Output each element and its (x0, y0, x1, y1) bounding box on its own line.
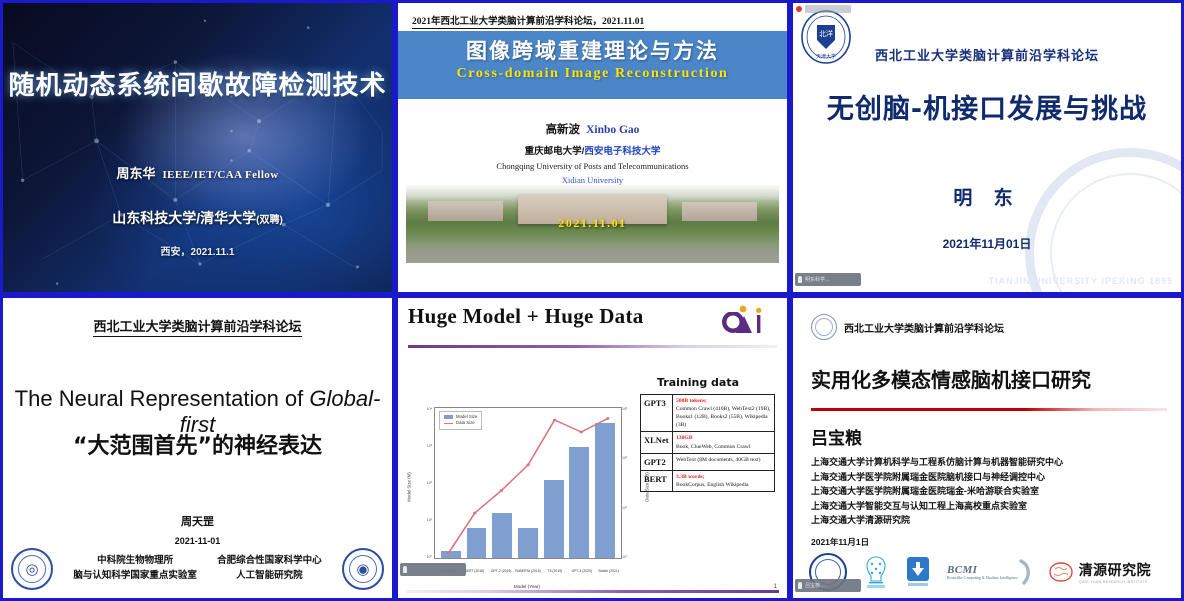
video-participant-badge-6[interactable]: 吕宝粮… (795, 579, 861, 592)
model-detail: 130GB Book, ClueWeb, Common Crawl (673, 432, 775, 453)
slide-6-org-4: 上海交通大学清源研究院 (811, 513, 1171, 528)
slide-5-canvas: Huge Model + Huge Data Training data GPT… (398, 298, 787, 598)
brain-lab-logo (863, 555, 889, 589)
slide-1-title: 随机动态系统间歇故障检测技术 (3, 65, 392, 102)
slide-4-forum: 西北工业大学类脑计算前沿学科论坛 (3, 316, 392, 335)
legend-swatch-bar (444, 415, 453, 419)
slide-1-affiliation: 山东科技大学/清华大学 (112, 210, 256, 226)
svg-text:北洋: 北洋 (819, 29, 833, 38)
slide-4-title-cn: “大范围首先”的神经表达 (3, 428, 392, 460)
slide-4-org-right: 合肥综合性国家科学中心 人工智能研究院 (217, 554, 322, 583)
slide-2-canvas: 2021年西北工业大学类脑计算前沿学科论坛，2021.11.01 图像跨域重建理… (398, 3, 787, 292)
chart-data-size-line (435, 408, 621, 558)
slide-4-canvas: 西北工业大学类脑计算前沿学科论坛 The Neural Representati… (3, 298, 392, 598)
video-participant-badge-3[interactable]: 明东科学… (795, 273, 861, 286)
footer-rule (406, 590, 779, 593)
qingyuan-brain-icon (1048, 561, 1074, 583)
slide-2-title-cn: 图像跨域重建理论与方法 (398, 35, 787, 65)
bcmi-label: BCMI (947, 564, 977, 576)
microphone-icon (798, 276, 802, 283)
tianjin-watermark-text: TIANJIN UNIVERSITY IPEKING 1895 (989, 276, 1173, 286)
slide-5-header: Huge Model + Huge Data (408, 304, 777, 348)
table-row: XLNet 130GB Book, ClueWeb, Common Crawl (641, 432, 775, 453)
slide-2-org-en-2: Xidian University (398, 175, 787, 185)
slide-6-org-0: 上海交通大学计算机科学与工程系仿脑计算与机器智能研究中心 (811, 455, 1171, 470)
slide-1-author: 周东华 (116, 166, 155, 181)
bcmi-logo: BCMI Brain-like Computing & Machine Inte… (947, 559, 1032, 585)
slide-6-logo-row: BCMI Brain-like Computing & Machine Inte… (809, 550, 1171, 594)
slide-4-author: 周天罡 (3, 513, 392, 529)
blue-lab-logo (905, 556, 931, 588)
slide-6-title: 实用化多模态情感脑机接口研究 (811, 364, 1091, 393)
table-row: GPT3 500B tokens; Common Crawl (410B), W… (641, 395, 775, 432)
slide-4-org-right-2: 人工智能研究院 (217, 569, 322, 584)
slide-panel-3[interactable]: TIANJIN UNIVERSITY IPEKING 1895 北洋 天津大学 … (790, 0, 1184, 295)
slide-2-header: 2021年西北工业大学类脑计算前沿学科论坛，2021.11.01 (412, 13, 777, 27)
slide-4-org-left: 中科院生物物理所 脑与认知科学国家重点实验室 (73, 554, 197, 583)
slide-3-canvas: TIANJIN UNIVERSITY IPEKING 1895 北洋 天津大学 … (793, 3, 1181, 292)
slide-6-date: 2021年11月1日 (811, 536, 869, 548)
slide-6-org-1: 上海交通大学医学院附属瑞金医院脑机接口与神经调控中心 (811, 470, 1171, 485)
chart-x-axis-label: Model (Year) (416, 584, 638, 589)
recording-label-bar (805, 5, 851, 13)
slide-6-author: 吕宝粮 (811, 424, 862, 449)
slide-2-speaker-line: 高新波Xinbo Gao (398, 121, 787, 137)
model-name: XLNet (641, 432, 673, 453)
model-detail: 500B tokens; Common Crawl (410B), WebTex… (673, 395, 775, 432)
bcmi-swoosh-icon (1018, 559, 1032, 585)
slide-1-date: 西安，2021.11.1 (3, 243, 392, 258)
slide-3-speaker: 明 东 (793, 183, 1181, 210)
legend-label-1: Data Size (456, 420, 475, 426)
nwpu-logo (811, 314, 837, 340)
model-detail: WebText (8M documents, 40GB text) (673, 453, 775, 470)
hefei-ai-institute-logo: ◉ (342, 548, 384, 590)
slide-2-title-en: Cross-domain Image Reconstruction (398, 66, 787, 82)
model-scaling-chart: Model Size (M) Data Size (GB) 10⁴10³ 10²… (416, 403, 638, 571)
tianjin-watermark (1025, 148, 1181, 292)
ibp-cas-logo: ◎ (11, 548, 53, 590)
video-participant-badge-5[interactable] (400, 563, 466, 576)
recording-indicator-icon (796, 6, 802, 12)
slide-3-title: 无创脑-机接口发展与挑战 (793, 87, 1181, 126)
slide-1-affiliation-line: 山东科技大学/清华大学(双聘) (3, 208, 392, 228)
table-row: BERT 3.3B words; BookCorpus, English Wik… (641, 470, 775, 491)
slide-2-org-cn-2: 西安电子科技大学 (584, 146, 660, 157)
slide-6-canvas: 西北工业大学类脑计算前沿学科论坛 实用化多模态情感脑机接口研究 吕宝粮 上海交通… (793, 298, 1181, 598)
participant-name: 明东科学… (805, 276, 830, 283)
slide-6-rule (811, 408, 1167, 411)
slide-1-honor: IEEE/IET/CAA Fellow (162, 169, 278, 181)
slide-4-org-right-1: 合肥综合性国家科学中心 (217, 554, 322, 569)
microphone-icon (798, 582, 802, 589)
training-data-table: GPT3 500B tokens; Common Crawl (410B), W… (640, 394, 775, 492)
header-rule (408, 345, 777, 348)
slide-1-canvas: 随机动态系统间歇故障检测技术 周东华IEEE/IET/CAA Fellow 山东… (3, 3, 392, 292)
slide-1-author-line: 周东华IEEE/IET/CAA Fellow (3, 163, 392, 182)
slide-6-org-3: 上海交通大学智能交互与认知工程上海高校重点实验室 (811, 499, 1171, 514)
qingyuan-label: 清源研究院 (1079, 562, 1152, 578)
microphone-icon (403, 566, 407, 573)
slide-3-forum: 西北工业大学类脑计算前沿学科论坛 (793, 45, 1181, 64)
slides-grid: 随机动态系统间歇故障检测技术 周东华IEEE/IET/CAA Fellow 山东… (0, 0, 1184, 601)
slide-2-date: 2021.11.01 (398, 216, 787, 231)
slide-panel-2[interactable]: 2021年西北工业大学类脑计算前沿学科论坛，2021.11.01 图像跨域重建理… (395, 0, 790, 295)
slide-4-org-left-1: 中科院生物物理所 (73, 554, 197, 569)
table-row: GPT2 WebText (8M documents, 40GB text) (641, 453, 775, 470)
model-name: GPT2 (641, 453, 673, 470)
training-data-title: Training data (657, 376, 739, 389)
qingyuan-logo: 清源研究院 QING YUAN RESEARCH INSTITUTE (1048, 560, 1152, 584)
bcmi-sub: Brain-like Computing & Machine Intellige… (947, 576, 1018, 580)
model-name: GPT3 (641, 395, 673, 432)
slide-6-org-2: 上海交通大学医学院附属瑞金医院瑞金-米哈游联合实验室 (811, 484, 1171, 499)
chart-y-axis-label: Model Size (M) (406, 472, 411, 502)
slide-panel-5[interactable]: Huge Model + Huge Data Training data GPT… (395, 295, 790, 601)
chart-legend: Model Size Data Size (439, 411, 482, 430)
slide-4-title-en-pre: The Neural Representation of (15, 386, 310, 411)
slide-2-org-en-1: Chongqing University of Posts and Teleco… (398, 161, 787, 171)
slide-2-title-band: 图像跨域重建理论与方法 Cross-domain Image Reconstru… (398, 31, 787, 99)
slide-4-date: 2021-11-01 (3, 536, 392, 546)
slide-1-affiliation-suffix: (双聘) (256, 215, 283, 226)
slide-2-org-cn-1: 重庆邮电大学 (525, 146, 582, 157)
slide-panel-4[interactable]: 西北工业大学类脑计算前沿学科论坛 The Neural Representati… (0, 295, 395, 601)
legend-swatch-line (444, 423, 453, 424)
slide-2-speaker-en: Xinbo Gao (586, 124, 639, 136)
model-detail: 3.3B words; BookCorpus, English Wikipedi… (673, 470, 775, 491)
caai-logo (713, 302, 773, 342)
qingyuan-sub: QING YUAN RESEARCH INSTITUTE (1079, 580, 1152, 584)
slide-6-forum: 西北工业大学类脑计算前沿学科论坛 (844, 320, 1004, 335)
slide-panel-6[interactable]: 西北工业大学类脑计算前沿学科论坛 实用化多模态情感脑机接口研究 吕宝粮 上海交通… (790, 295, 1184, 601)
chart-y2-axis-label: Data Size (GB) (645, 472, 650, 502)
slide-6-orgs: 上海交通大学计算机科学与工程系仿脑计算与机器智能研究中心 上海交通大学医学院附属… (811, 455, 1171, 528)
slide-panel-1[interactable]: 随机动态系统间歇故障检测技术 周东华IEEE/IET/CAA Fellow 山东… (0, 0, 395, 295)
slide-6-header: 西北工业大学类脑计算前沿学科论坛 (811, 314, 1004, 340)
slide-4-org-left-2: 脑与认知科学国家重点实验室 (73, 569, 197, 584)
chart-plot-area: Model Size Data Size (434, 407, 622, 559)
slide-4-footer: ◎ 中科院生物物理所 脑与认知科学国家重点实验室 合肥综合性国家科学中心 人工智… (11, 548, 384, 590)
chart-y2-ticks: 10³10² 10¹10⁰ (622, 407, 638, 559)
slide-2-org-cn: 重庆邮电大学/西安电子科技大学 (398, 143, 787, 157)
slide-3-date: 2021年11月01日 (793, 235, 1181, 252)
slide-2-speaker-cn: 高新波 (546, 124, 581, 136)
participant-name: 吕宝粮… (805, 582, 825, 589)
chart-y-ticks: 10⁴10³ 10²10¹ 10⁰ (416, 407, 432, 559)
